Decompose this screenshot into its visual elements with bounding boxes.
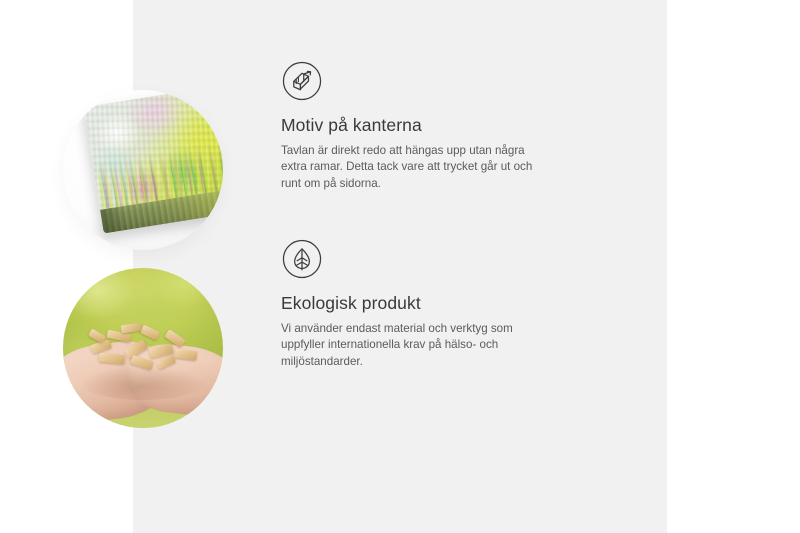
feature-block-eco-product: Ekologisk produkt Vi använder endast mat…	[0, 238, 533, 428]
feature-description: Tavlan är direkt redo att hängas upp uta…	[281, 143, 533, 192]
feature-title: Ekologisk produkt	[281, 293, 533, 314]
feature-description: Vi använder endast material och verktyg …	[281, 321, 533, 370]
feature-text-canvas-edges: Motiv på kanterna Tavlan är direkt redo …	[223, 60, 533, 192]
feature-text-eco-product: Ekologisk produkt Vi använder endast mat…	[223, 238, 533, 370]
canvas-print-corner-photo	[63, 90, 223, 250]
leaf-icon	[281, 238, 323, 280]
feature-block-canvas-edges: Motiv på kanterna Tavlan är direkt redo …	[0, 60, 533, 250]
feature-title: Motiv på kanterna	[281, 115, 533, 136]
hands-holding-wood-chips-photo	[63, 268, 223, 428]
canvas-print-artwork	[84, 90, 223, 234]
wood-chip-pile	[87, 320, 207, 380]
product-feature-graphic: Motiv på kanterna Tavlan är direkt redo …	[0, 0, 800, 533]
white-disc-background	[63, 90, 223, 250]
canvas-wrapped-edges-icon	[281, 60, 323, 102]
green-meadow-background	[63, 268, 223, 428]
